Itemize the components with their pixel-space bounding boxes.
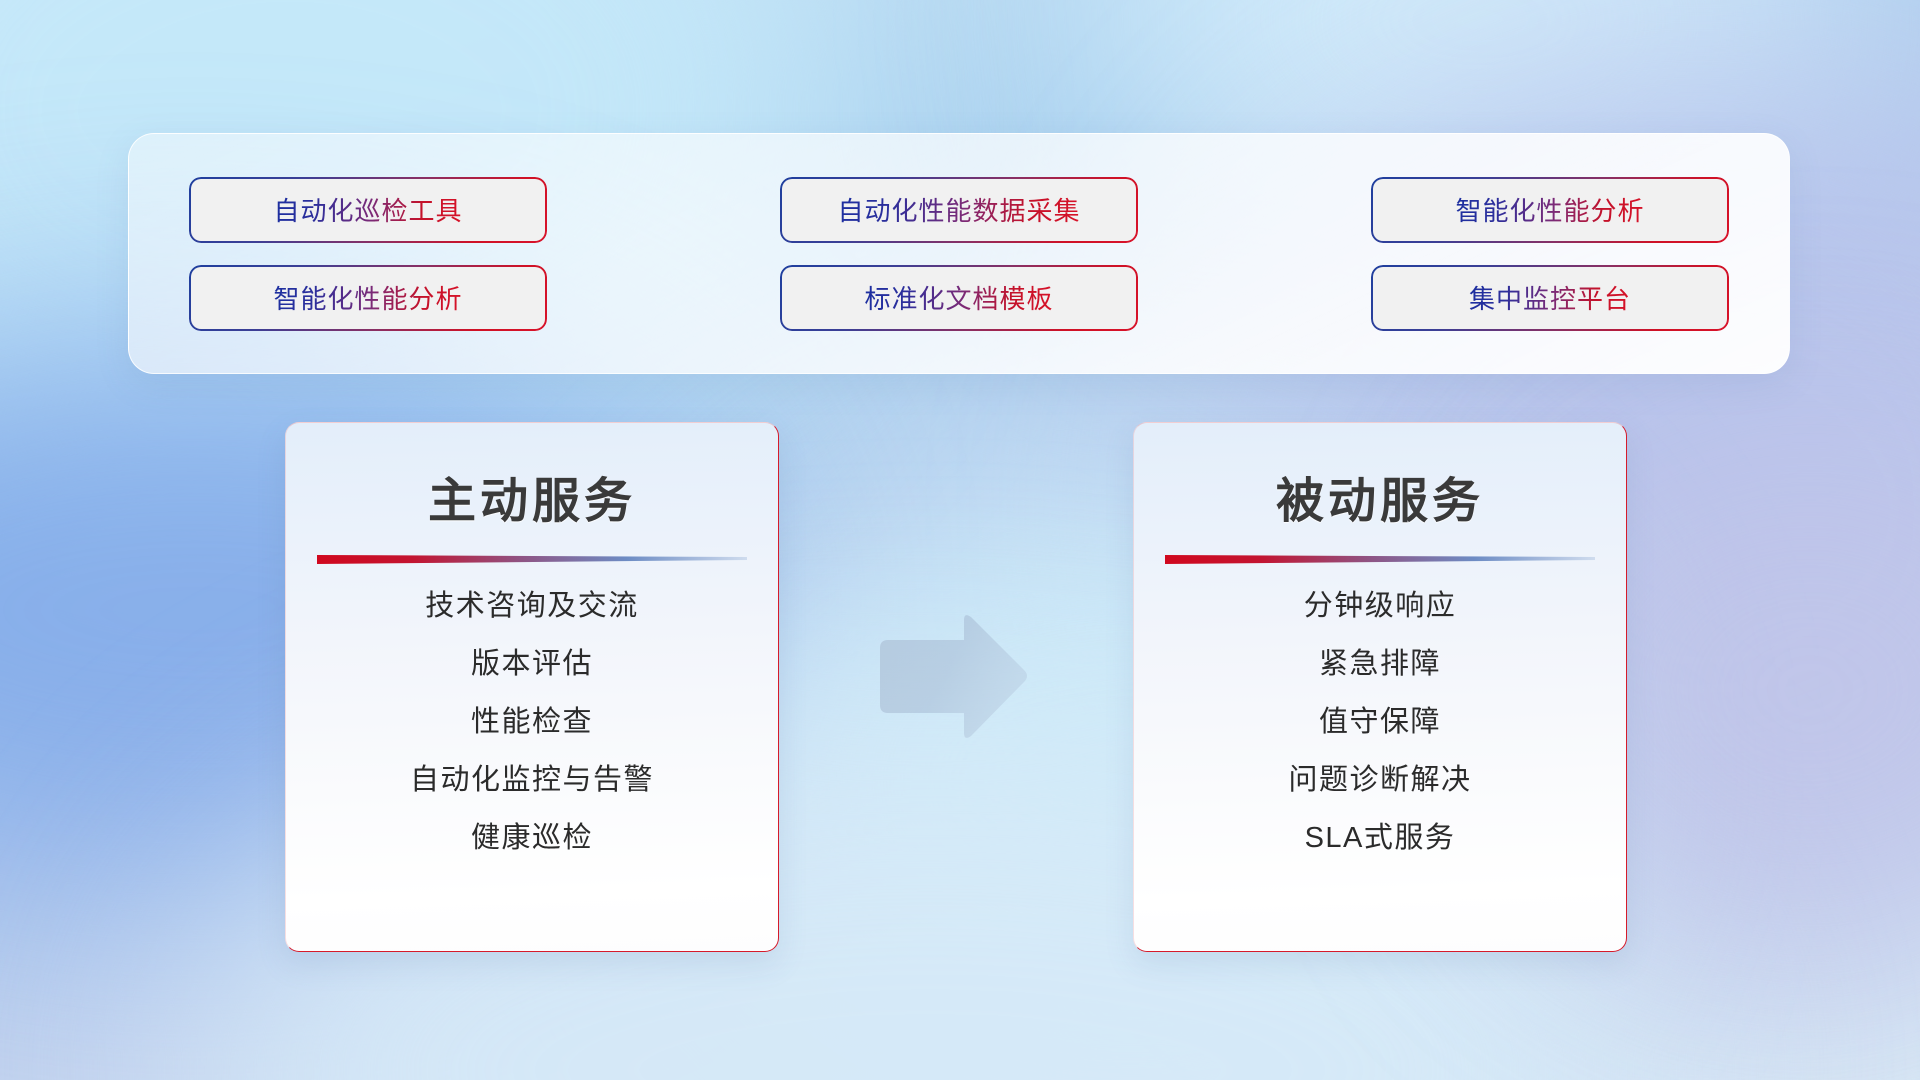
list-item: 分钟级响应 [1304, 591, 1457, 623]
card-divider [1165, 553, 1595, 565]
card-title: 主动服务 [428, 461, 636, 531]
list-item: SLA式服务 [1305, 823, 1456, 855]
flow-arrow-icon [872, 614, 1028, 740]
capability-tag[interactable]: 自动化巡检工具 [189, 177, 547, 243]
list-item: 版本评估 [471, 649, 593, 681]
card-item-list: 分钟级响应 紧急排障 值守保障 问题诊断解决 SLA式服务 [1134, 591, 1626, 854]
capability-tag-label: 自动化性能数据采集 [837, 191, 1080, 228]
card-divider [317, 553, 747, 565]
capability-tag[interactable]: 集中监控平台 [1371, 265, 1729, 331]
diagram-canvas: 自动化巡检工具 自动化性能数据采集 智能化性能分析 智能化性能分析 标准化文档模… [0, 0, 1920, 1080]
capability-tag-label: 标准化文档模板 [864, 279, 1053, 316]
capability-tag-label: 自动化巡检工具 [273, 191, 462, 228]
capability-tag[interactable]: 标准化文档模板 [780, 265, 1138, 331]
list-item: 性能检查 [471, 707, 593, 739]
card-title: 被动服务 [1276, 461, 1484, 531]
list-item: 紧急排障 [1319, 649, 1441, 681]
list-item: 健康巡检 [471, 823, 593, 855]
capability-tag-label: 智能化性能分析 [1455, 191, 1644, 228]
capability-tag[interactable]: 自动化性能数据采集 [780, 177, 1138, 243]
list-item: 问题诊断解决 [1288, 765, 1471, 797]
card-item-list: 技术咨询及交流 版本评估 性能检查 自动化监控与告警 健康巡检 [286, 591, 778, 854]
capability-tag[interactable]: 智能化性能分析 [1371, 177, 1729, 243]
capability-row-2: 智能化性能分析 标准化文档模板 集中监控平台 [189, 265, 1729, 331]
list-item: 自动化监控与告警 [410, 765, 654, 797]
capability-tag-label: 集中监控平台 [1469, 279, 1631, 316]
service-card-proactive: 主动服务 技术咨询及交流 版本评估 性能检查 自动化监控与告警 [285, 422, 779, 952]
list-item: 技术咨询及交流 [425, 591, 639, 623]
capability-tag[interactable]: 智能化性能分析 [189, 265, 547, 331]
capability-row-1: 自动化巡检工具 自动化性能数据采集 智能化性能分析 [189, 177, 1729, 243]
capability-tag-label: 智能化性能分析 [273, 279, 462, 316]
service-card-reactive: 被动服务 分钟级响应 紧急排障 值守保障 问题诊断解决 [1133, 422, 1627, 952]
capability-panel: 自动化巡检工具 自动化性能数据采集 智能化性能分析 智能化性能分析 标准化文档模… [128, 133, 1790, 374]
list-item: 值守保障 [1319, 707, 1441, 739]
